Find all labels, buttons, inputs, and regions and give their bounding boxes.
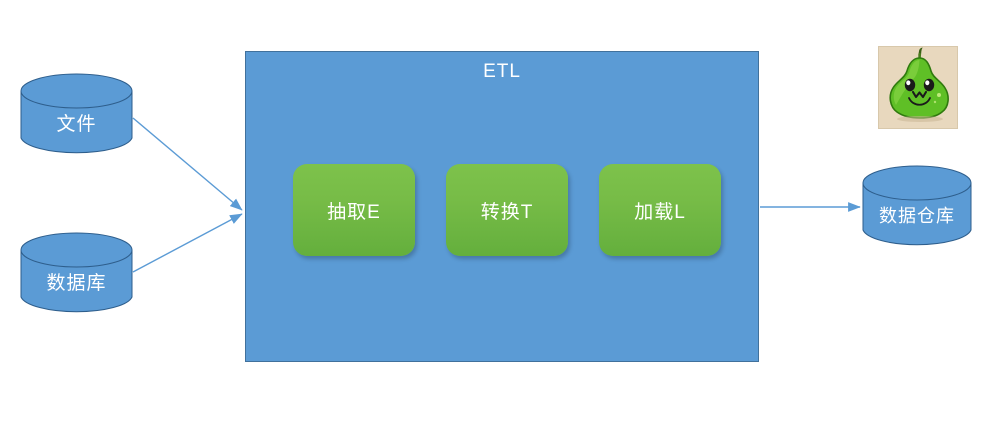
pear-mascot-icon [879,47,958,129]
etl-stage-extract[interactable]: 抽取E [293,164,415,256]
etl-stage-transform[interactable]: 转换T [446,164,568,256]
cylinder-shape-warehouse [862,165,972,248]
etl-stage-label-transform: 转换T [481,197,534,224]
etl-container[interactable]: ETL 抽取E 转换T 加载L [245,51,759,362]
cylinder-shape-database [20,232,133,315]
source-cylinder-file[interactable]: 文件 [20,73,133,156]
connector-database-to-etl [133,214,242,272]
cylinder-shape-file [20,73,133,156]
source-cylinder-database[interactable]: 数据库 [20,232,133,315]
target-cylinder-warehouse[interactable]: 数据仓库 [862,165,972,248]
etl-stage-label-extract: 抽取E [327,197,381,224]
pear-mascot-logo [878,46,958,129]
etl-stage-load[interactable]: 加载L [599,164,721,256]
diagram-canvas: 文件 数据库 ETL 抽取E 转换T 加载L 数据仓库 [0,0,997,441]
etl-stage-label-load: 加载L [634,197,686,224]
etl-title: ETL [246,61,758,83]
connector-file-to-etl [133,118,242,210]
